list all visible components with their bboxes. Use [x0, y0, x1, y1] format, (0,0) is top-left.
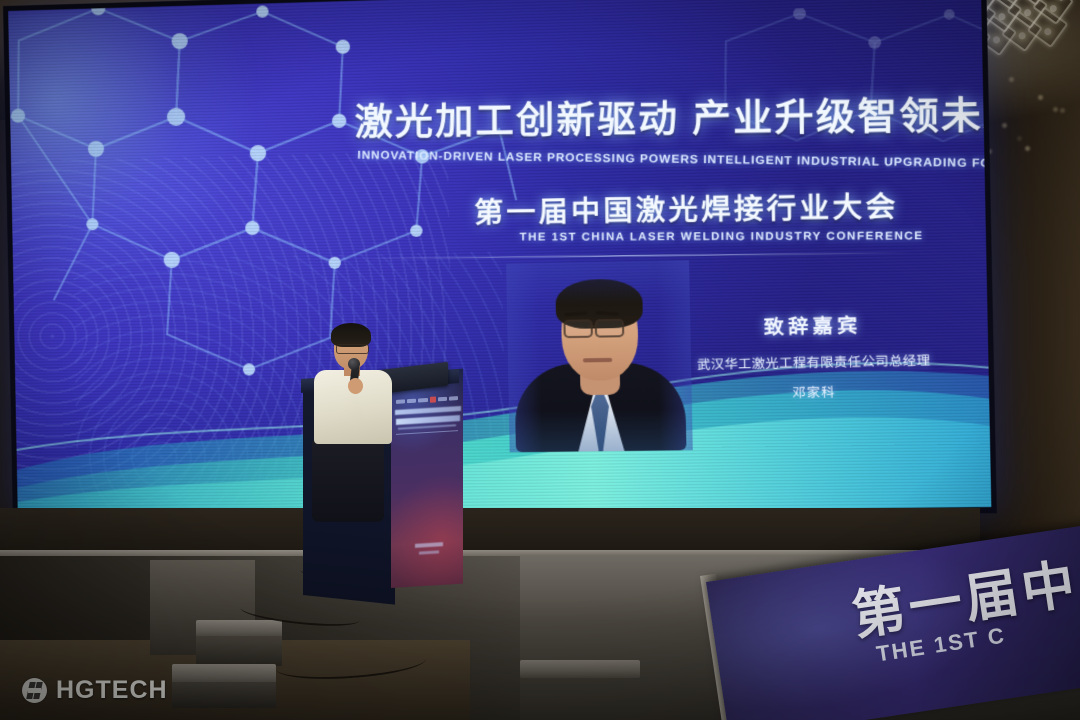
- banner-title-en: INNOVATION-DRIVEN LASER PROCESSING POWER…: [357, 148, 991, 175]
- banner-subtitle-en: THE 1ST CHINA LASER WELDING INDUSTRY CON…: [520, 230, 924, 243]
- presenter-at-podium: [300, 320, 410, 520]
- stage-step-right: [520, 660, 640, 678]
- hgtech-watermark: HGTECH: [22, 676, 168, 705]
- speaker-name: 邓家科: [682, 379, 948, 403]
- step-riser-upper: [196, 636, 282, 666]
- banner-divider-line: [357, 252, 913, 259]
- step-riser-lower: [172, 682, 276, 708]
- speaker-organization: 武汉华工激光工程有限责任公司总经理: [681, 349, 947, 373]
- hgtech-brand-text: HGTECH: [56, 676, 168, 705]
- banner-subtitle-cn: 第一届中国激光焊接行业大会: [474, 185, 899, 232]
- banner-title-cn: 激光加工创新驱动 产业升级智领未来: [355, 84, 986, 146]
- conference-photo-scene: 激光加工创新驱动 产业升级智领未来 INNOVATION-DRIVEN LASE…: [0, 0, 1080, 720]
- speaker-role: 致辞嘉宾: [680, 309, 946, 342]
- led-screen-frame: 激光加工创新驱动 产业升级智领未来 INNOVATION-DRIVEN LASE…: [3, 0, 997, 522]
- led-screen: 激光加工创新驱动 产业升级智领未来 INNOVATION-DRIVEN LASE…: [8, 0, 991, 516]
- hgtech-logo-icon: [22, 678, 47, 703]
- speaker-info-block: 致辞嘉宾 武汉华工激光工程有限责任公司总经理 邓家科: [680, 309, 948, 404]
